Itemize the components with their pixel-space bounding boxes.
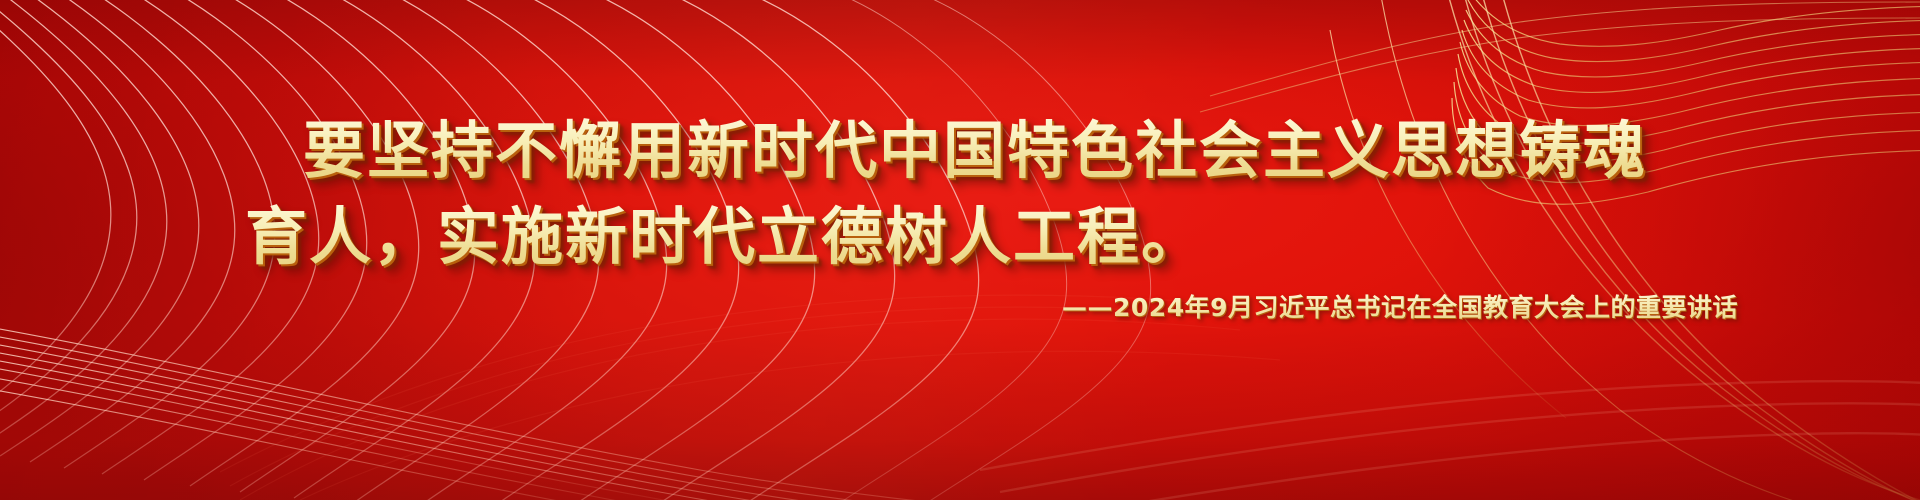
headline-line-1: 要坚持不懈用新时代中国特色社会主义思想铸魂: [0, 108, 1920, 194]
banner-content: 要坚持不懈用新时代中国特色社会主义思想铸魂 育人，实施新时代立德树人工程。 ——…: [0, 0, 1920, 500]
attribution-text: ——2024年9月习近平总书记在全国教育大会上的重要讲话: [0, 288, 1738, 324]
red-banner: 要坚持不懈用新时代中国特色社会主义思想铸魂 育人，实施新时代立德树人工程。 ——…: [0, 0, 1920, 500]
headline-block: 要坚持不懈用新时代中国特色社会主义思想铸魂 育人，实施新时代立德树人工程。: [0, 108, 1920, 280]
headline-line-2: 育人，实施新时代立德树人工程。: [0, 194, 1920, 280]
